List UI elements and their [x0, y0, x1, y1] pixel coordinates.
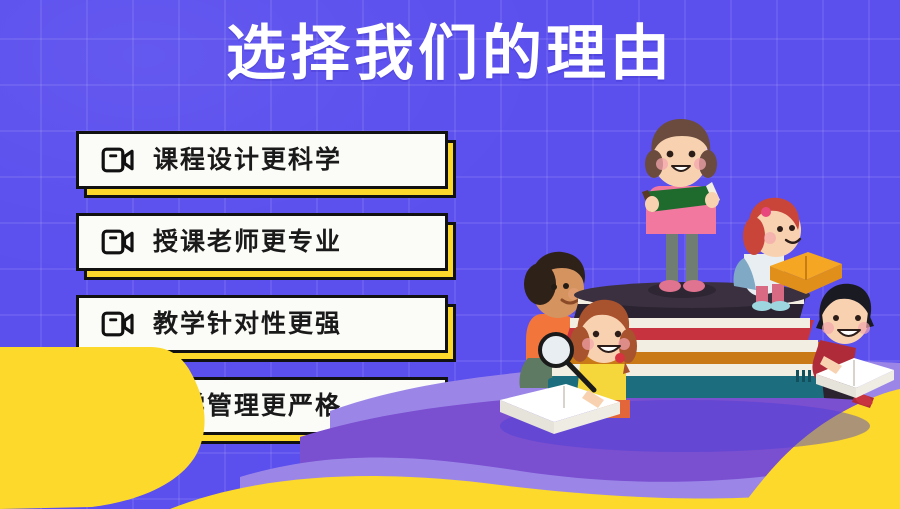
- poster-canvas: 选择我们的理由 课程设计更科学 授课老师更专业: [0, 0, 900, 509]
- feature-label: 授课老师更专业: [153, 227, 342, 257]
- list-item[interactable]: 课程设计更科学: [76, 131, 448, 189]
- feature-label: 课程设计更科学: [153, 145, 342, 175]
- page-title: 选择我们的理由: [0, 20, 900, 88]
- feature-card[interactable]: 课程设计更科学: [76, 131, 448, 189]
- wave-yellow-left: [0, 347, 205, 509]
- feature-card[interactable]: 授课老师更专业: [76, 213, 448, 271]
- standing-girl-with-green-book: [642, 119, 720, 298]
- children-reading-illustration: [470, 108, 900, 468]
- video-camera-icon: [101, 147, 135, 173]
- list-item[interactable]: 授课老师更专业: [76, 213, 448, 271]
- video-camera-icon: [101, 229, 135, 255]
- boy-in-red-sweater: [812, 284, 894, 408]
